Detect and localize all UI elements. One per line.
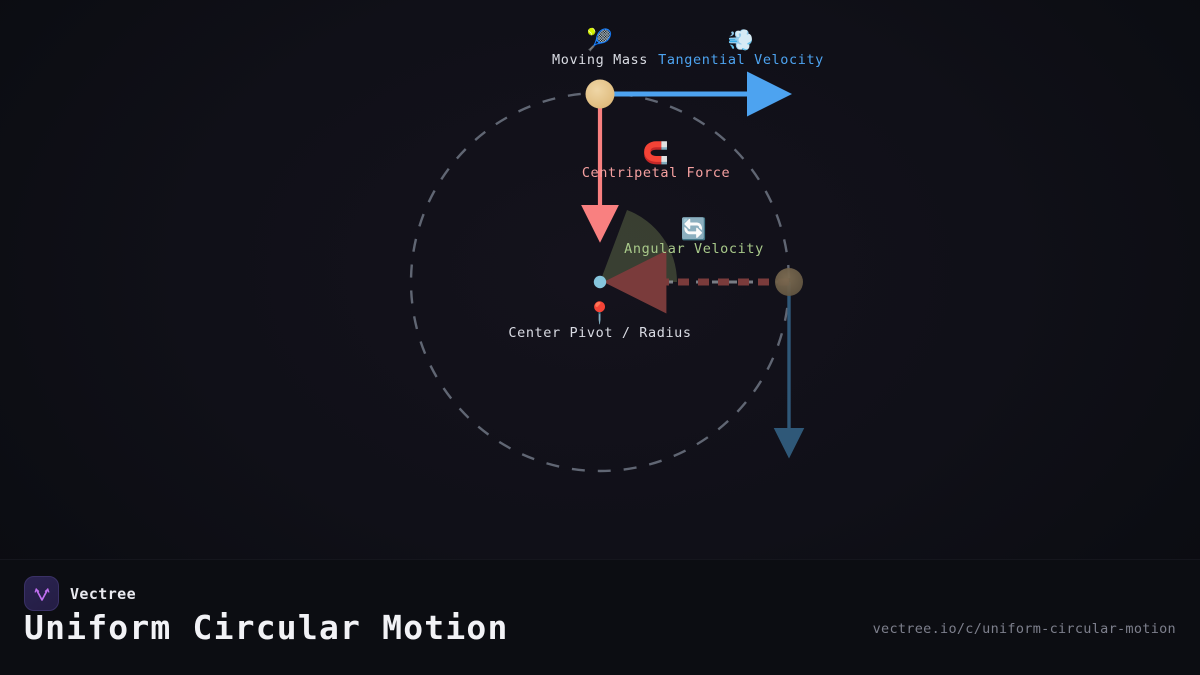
center-pivot-dot bbox=[594, 276, 606, 288]
page-url: vectree.io/c/uniform-circular-motion bbox=[873, 621, 1176, 637]
circular-motion-diagram bbox=[0, 0, 1200, 560]
screenshot-root: 🎾 Moving Mass 💨 Tangential Velocity 🧲 Ce… bbox=[0, 0, 1200, 675]
brand-row: Vectree bbox=[24, 576, 136, 611]
angular-sweep-wedge bbox=[600, 210, 677, 282]
ghost-mass-body bbox=[775, 268, 803, 296]
footer-bar: Vectree Uniform Circular Motion vectree.… bbox=[0, 559, 1200, 675]
vectree-logo-icon bbox=[24, 576, 59, 611]
brand-name: Vectree bbox=[70, 585, 136, 603]
logo-glyph bbox=[32, 584, 52, 604]
moving-mass-body bbox=[586, 80, 615, 109]
page-title: Uniform Circular Motion bbox=[24, 608, 509, 648]
